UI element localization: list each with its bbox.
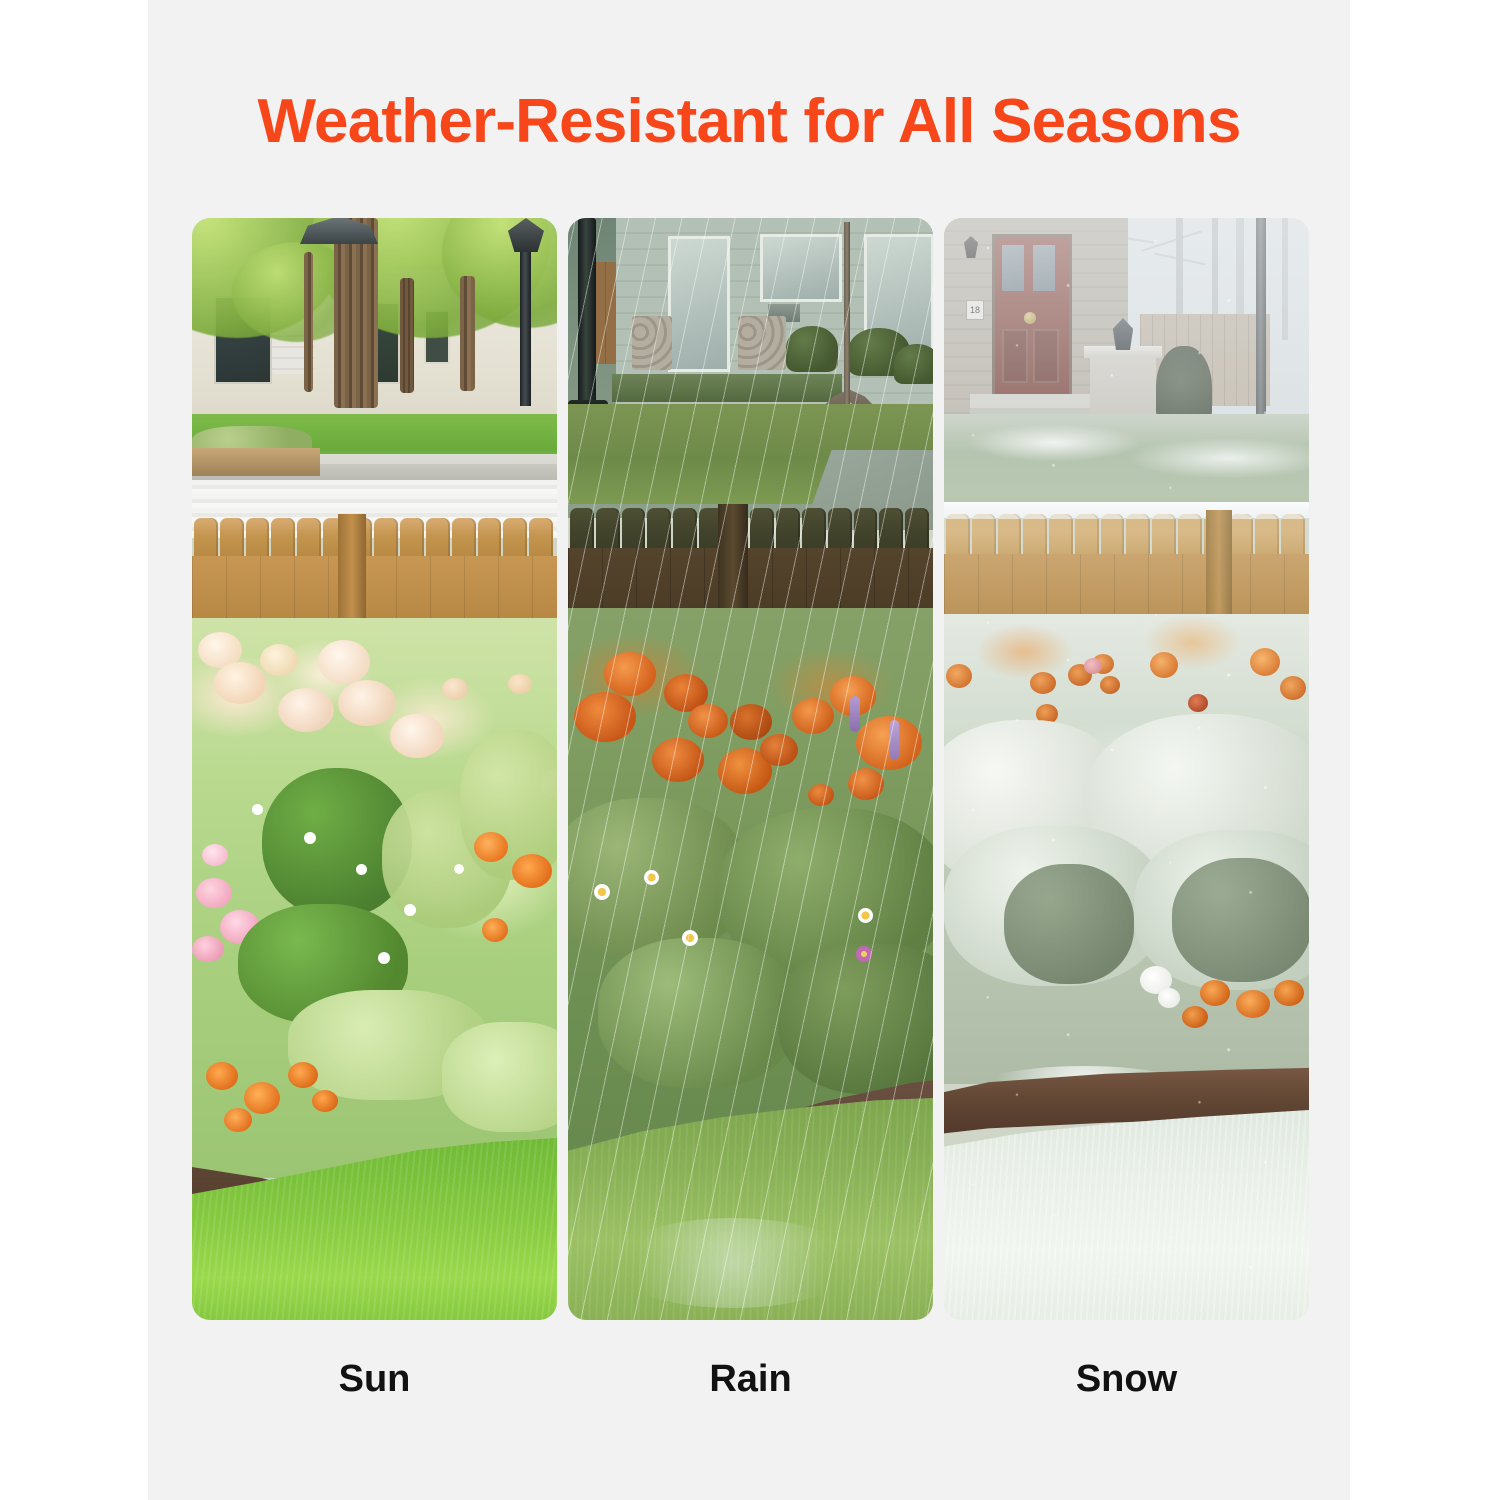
orange-flower — [1250, 648, 1280, 676]
succulent-clump — [442, 1022, 557, 1132]
foliage-mass — [598, 938, 798, 1088]
flower-bed-snowy — [944, 614, 1309, 1084]
rose-blossom — [318, 640, 370, 684]
garden-stand-pole — [844, 222, 850, 412]
rose-blossom — [442, 678, 468, 700]
orange-flower — [1182, 1006, 1208, 1028]
white-daisy — [858, 908, 873, 923]
orange-flower — [1280, 676, 1306, 700]
orange-dahlia — [792, 698, 834, 734]
marigold-blossom — [482, 918, 508, 942]
door-glass-pane — [1002, 245, 1024, 291]
orange-rose — [652, 738, 704, 782]
orange-rose — [574, 692, 636, 742]
purple-spire — [850, 696, 860, 732]
tree-trunk — [400, 278, 414, 393]
door-knob-icon[interactable] — [1024, 312, 1036, 324]
hedge — [612, 374, 842, 402]
scene-rain — [568, 218, 933, 1320]
marigold-blossom — [474, 832, 508, 862]
white-blossom — [454, 864, 464, 874]
orange-flower — [1236, 990, 1270, 1018]
flower-bed — [568, 608, 933, 1168]
marigold-blossom — [244, 1082, 280, 1114]
marigold-blossom — [288, 1062, 318, 1088]
flower-bed — [192, 618, 557, 1178]
planter-box — [192, 448, 320, 476]
rose-blossom — [390, 714, 444, 758]
white-blossom — [1158, 988, 1180, 1008]
caption-snow: Snow — [944, 1356, 1309, 1402]
white-blossom — [356, 864, 367, 875]
rose-blossom — [214, 662, 266, 704]
street-lamp-post — [520, 226, 531, 406]
panel-sun[interactable] — [192, 218, 557, 1320]
house-number-plate: 18 — [966, 300, 984, 320]
tree-trunk — [460, 276, 475, 391]
orange-dahlia — [848, 768, 884, 800]
marigold-blossom — [206, 1062, 238, 1090]
lawn-background-snowy — [944, 414, 1309, 510]
pink-blossom — [196, 878, 232, 908]
panel-rain[interactable] — [568, 218, 933, 1320]
door-glass-pane — [1033, 245, 1055, 291]
orange-rose — [604, 652, 656, 696]
patio-door — [668, 236, 730, 372]
white-daisy — [644, 870, 659, 885]
red-flower — [1188, 694, 1208, 712]
window — [760, 234, 842, 302]
stone-base — [632, 316, 672, 370]
puddle — [608, 1218, 858, 1308]
white-blossom — [304, 832, 316, 844]
orange-rose — [760, 734, 798, 766]
utility-pole — [1256, 218, 1266, 416]
stone-base — [738, 316, 786, 370]
page-title: Weather-Resistant for All Seasons — [148, 86, 1350, 158]
marigold-blossom — [312, 1090, 338, 1112]
door-panel — [1002, 329, 1028, 383]
marketing-image-canvas: Weather-Resistant for All Seasons — [0, 0, 1500, 1500]
scene-snow: 18 — [944, 218, 1309, 1320]
marigold-blossom — [512, 854, 552, 888]
orange-rose — [688, 704, 728, 738]
scene-sun — [192, 218, 557, 1320]
orange-flower — [1030, 672, 1056, 694]
orange-flower — [1200, 980, 1230, 1006]
lawn-foreground-snowy — [944, 1110, 1309, 1320]
pink-blossom — [202, 844, 228, 866]
white-blossom — [404, 904, 416, 916]
pink-aster — [856, 946, 872, 962]
bare-tree-trunk — [1282, 218, 1288, 340]
rose-blossom — [260, 644, 298, 676]
rose-blossom — [338, 680, 396, 726]
orange-flower — [1150, 652, 1178, 678]
white-daisy — [682, 930, 698, 946]
caption-rain: Rain — [568, 1356, 933, 1402]
dark-foliage — [1004, 864, 1134, 984]
tree-trunk-main — [334, 218, 378, 408]
tree-trunk — [304, 252, 313, 392]
pink-flower — [1084, 658, 1102, 674]
shrub — [786, 326, 838, 372]
lamp-post — [578, 218, 596, 424]
orange-rose — [730, 704, 772, 740]
caption-sun: Sun — [192, 1356, 557, 1402]
dark-foliage — [1172, 858, 1309, 982]
orange-dahlia — [808, 784, 834, 806]
white-daisy — [594, 884, 610, 900]
rose-blossom — [278, 688, 334, 732]
foliage-mass — [778, 944, 933, 1094]
purple-spire — [890, 720, 899, 760]
orange-flower — [1274, 980, 1304, 1006]
white-blossom — [252, 804, 263, 815]
marigold-blossom — [224, 1108, 252, 1132]
panel-snow[interactable]: 18 — [944, 218, 1309, 1320]
orange-dahlia — [856, 716, 922, 770]
orange-flower — [1100, 676, 1120, 694]
rose-blossom — [508, 674, 532, 694]
shrub — [894, 344, 933, 384]
white-blossom — [378, 952, 390, 964]
orange-flower — [946, 664, 972, 688]
pink-blossom — [192, 936, 224, 962]
door-panel — [1033, 329, 1059, 383]
